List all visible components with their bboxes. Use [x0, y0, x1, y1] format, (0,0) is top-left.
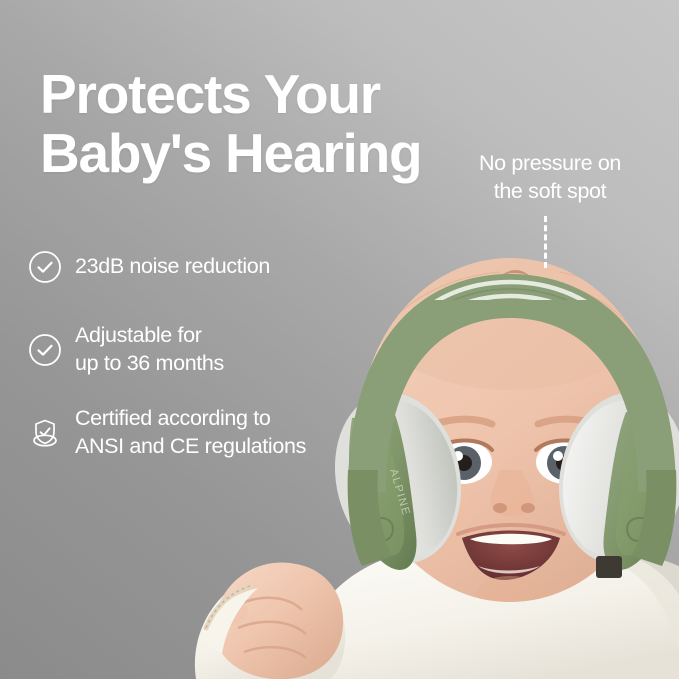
- feature-label: Adjustable for up to 36 months: [75, 322, 224, 377]
- svg-text:ALPINE: ALPINE: [387, 468, 412, 518]
- circle-check-icon: [28, 333, 62, 367]
- product-marketing-image: ALPINE: [0, 0, 679, 679]
- circle-check-icon: [28, 250, 62, 284]
- shield-check-badge-icon: [28, 416, 62, 450]
- list-item: Adjustable for up to 36 months: [28, 321, 358, 379]
- callout-leader-line: [544, 216, 547, 268]
- list-item: 23dB noise reduction: [28, 238, 358, 296]
- feature-label: 23dB noise reduction: [75, 253, 270, 281]
- page-title: Protects Your Baby's Hearing: [40, 65, 460, 184]
- list-item: Certified according to ANSI and CE regul…: [28, 404, 358, 462]
- feature-list: 23dB noise reduction Adjustable for up t…: [28, 238, 358, 462]
- callout-text: No pressure on the soft spot: [438, 150, 662, 206]
- feature-label: Certified according to ANSI and CE regul…: [75, 405, 306, 460]
